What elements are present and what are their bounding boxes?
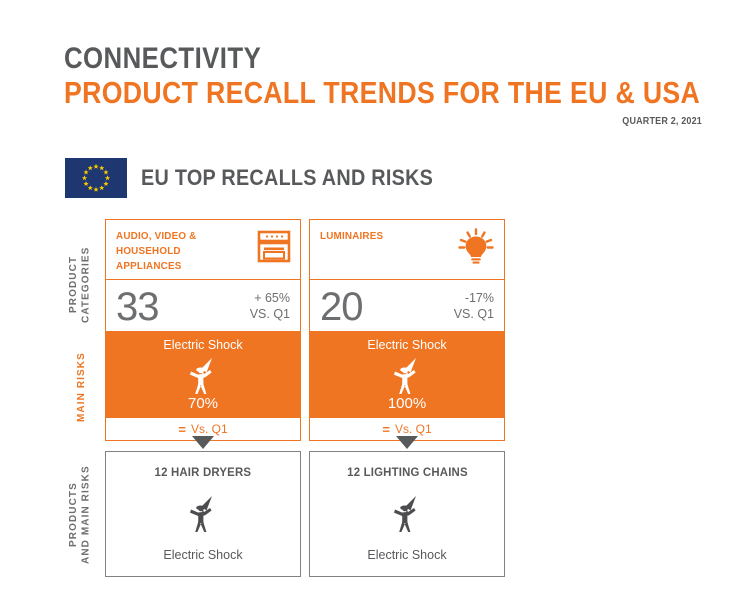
trend-equal-icon: = [382,422,390,437]
header: CONNECTIVITY PRODUCT RECALL TRENDS FOR T… [64,44,702,127]
recall-delta-ref: VS. Q1 [250,307,290,322]
section-title: EU TOP RECALLS AND RISKS [141,165,433,191]
category-cards: AUDIO, VIDEO & HOUSEHOLD APPLIANCES [105,219,505,441]
arrow-down-icon [396,436,418,449]
electric-shock-icon [390,357,424,395]
header-title-line2: PRODUCT RECALL TRENDS FOR THE EU & USA [64,77,613,110]
oven-icon [256,228,292,269]
card-header: LUMINAIRES [310,220,504,280]
main-risk-percentage: 100% [310,396,504,413]
product-title: 12 HAIR DRYERS [155,465,252,479]
main-risk-percentage: 70% [106,396,300,413]
category-card: AUDIO, VIDEO & HOUSEHOLD APPLIANCES [105,219,301,441]
infographic-page: CONNECTIVITY PRODUCT RECALL TRENDS FOR T… [0,0,749,609]
product-box: 12 HAIR DRYERS Electric Shock [105,451,301,577]
category-card: LUMINAIRES [309,219,505,441]
arrow-down-icon [192,436,214,449]
lightbulb-icon [456,228,496,271]
product-boxes: 12 HAIR DRYERS Electric Shock 12 LIGHTIN… [105,451,505,577]
card-header: AUDIO, VIDEO & HOUSEHOLD APPLIANCES [106,220,300,280]
product-risk: Electric Shock [367,548,446,562]
recall-delta: + 65% VS. Q1 [250,291,290,322]
axis-label-product-categories: PRODUCT CATEGORIES [68,232,93,337]
recall-count: 33 [116,287,159,327]
axis-label-main-risks: MAIN RISKS [76,345,89,430]
product-title: 12 LIGHTING CHAINS [347,465,468,479]
main-risk-name: Electric Shock [106,339,300,353]
axis-label-products-and-main-risks: PRODUCTS AND MAIN RISKS [68,452,93,577]
recall-delta-ref: VS. Q1 [454,307,494,322]
product-risk: Electric Shock [163,548,242,562]
recall-delta-value: + 65% [250,291,290,306]
category-name: AUDIO, VIDEO & HOUSEHOLD APPLIANCES [116,229,248,274]
main-risk-band: Electric Shock 100% [310,332,504,418]
electric-shock-icon [390,494,424,534]
card-count-row: 33 + 65% VS. Q1 [106,280,300,332]
category-name: LUMINAIRES [320,229,383,244]
main-risk-band: Electric Shock 70% [106,332,300,418]
trend-reference: Vs. Q1 [191,422,228,436]
electric-shock-icon [186,494,220,534]
header-title-line1: CONNECTIVITY [64,44,613,75]
card-count-row: 20 -17% VS. Q1 [310,280,504,332]
connector-arrows [105,436,505,449]
recall-delta: -17% VS. Q1 [454,291,494,322]
trend-equal-icon: = [178,422,186,437]
recall-delta-value: -17% [454,291,494,306]
section-header: EU TOP RECALLS AND RISKS [65,158,466,198]
trend-reference: Vs. Q1 [395,422,432,436]
header-quarter: QUARTER 2, 2021 [128,116,702,127]
product-box: 12 LIGHTING CHAINS Electric Shock [309,451,505,577]
electric-shock-icon [186,357,220,395]
recall-count: 20 [320,287,363,327]
main-risk-name: Electric Shock [310,339,504,353]
eu-flag-icon [65,158,127,198]
